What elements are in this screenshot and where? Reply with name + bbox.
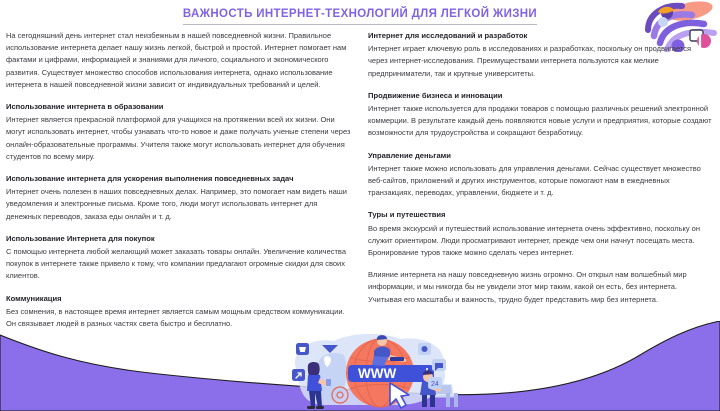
internet-globe-illustration: WWW	[278, 329, 478, 411]
article-section: Туры и путешествия Во время экскурсий и …	[368, 209, 712, 259]
www-label: WWW	[358, 366, 396, 381]
article-section: Коммуникация Без сомнения, в настоящее в…	[6, 293, 354, 331]
section-body: Интернет также можно использовать для уп…	[368, 163, 712, 200]
section-body: Интернет также используется для продажи …	[368, 103, 712, 140]
article-section: Интернет для исследований и разработок И…	[368, 30, 712, 80]
article-section: Влияние интернета на нашу повседневную ж…	[368, 269, 712, 306]
article-section: Продвижение бизнеса и инновации Интернет…	[368, 90, 712, 140]
section-heading: Использование Интернета для покупок	[6, 233, 354, 245]
article-section: Использование интернета в образовании Ин…	[6, 101, 354, 163]
svg-text:24: 24	[431, 381, 439, 388]
section-heading: Коммуникация	[6, 293, 354, 305]
section-heading: Интернет для исследований и разработок	[368, 30, 712, 42]
section-heading: Использование интернета для ускорения вы…	[6, 173, 354, 185]
poster-page: WWW	[0, 0, 720, 411]
section-heading: Использование интернета в образовании	[6, 101, 354, 113]
section-heading: Продвижение бизнеса и инновации	[368, 90, 712, 102]
article-section: Использование интернета для ускорения вы…	[6, 173, 354, 223]
section-body: Во время экскурсий и путешествий использ…	[368, 223, 712, 260]
article-section: Управление деньгами Интернет также можно…	[368, 150, 712, 200]
right-column: Интернет для исследований и разработок И…	[362, 30, 720, 330]
left-column: На сегодняшний день интернет стал неизбе…	[0, 30, 362, 330]
section-body: Интернет очень полезен в наших повседнев…	[6, 186, 354, 223]
page-title-wrap: ВАЖНОСТЬ ИНТЕРНЕТ-ТЕХНОЛОГИЙ ДЛЯ ЛЕГКОЙ …	[0, 4, 720, 25]
section-body: Влияние интернета на нашу повседневную ж…	[368, 269, 712, 306]
section-heading: Управление деньгами	[368, 150, 712, 162]
section-heading: Туры и путешествия	[368, 209, 712, 221]
section-body: Без сомнения, в настоящее время интернет…	[6, 306, 354, 330]
article-section: Использование Интернета для покупок С по…	[6, 233, 354, 283]
section-body: На сегодняшний день интернет стал неизбе…	[6, 30, 354, 91]
section-body: Интернет играет ключевую роль в исследов…	[368, 43, 712, 80]
article-section: На сегодняшний день интернет стал неизбе…	[6, 30, 354, 91]
section-body: С помощью интернета любой желающий может…	[6, 246, 354, 283]
content-columns: На сегодняшний день интернет стал неизбе…	[0, 30, 720, 330]
section-body: Интернет является прекрасной платформой …	[6, 114, 354, 163]
page-title: ВАЖНОСТЬ ИНТЕРНЕТ-ТЕХНОЛОГИЙ ДЛЯ ЛЕГКОЙ …	[183, 7, 537, 25]
